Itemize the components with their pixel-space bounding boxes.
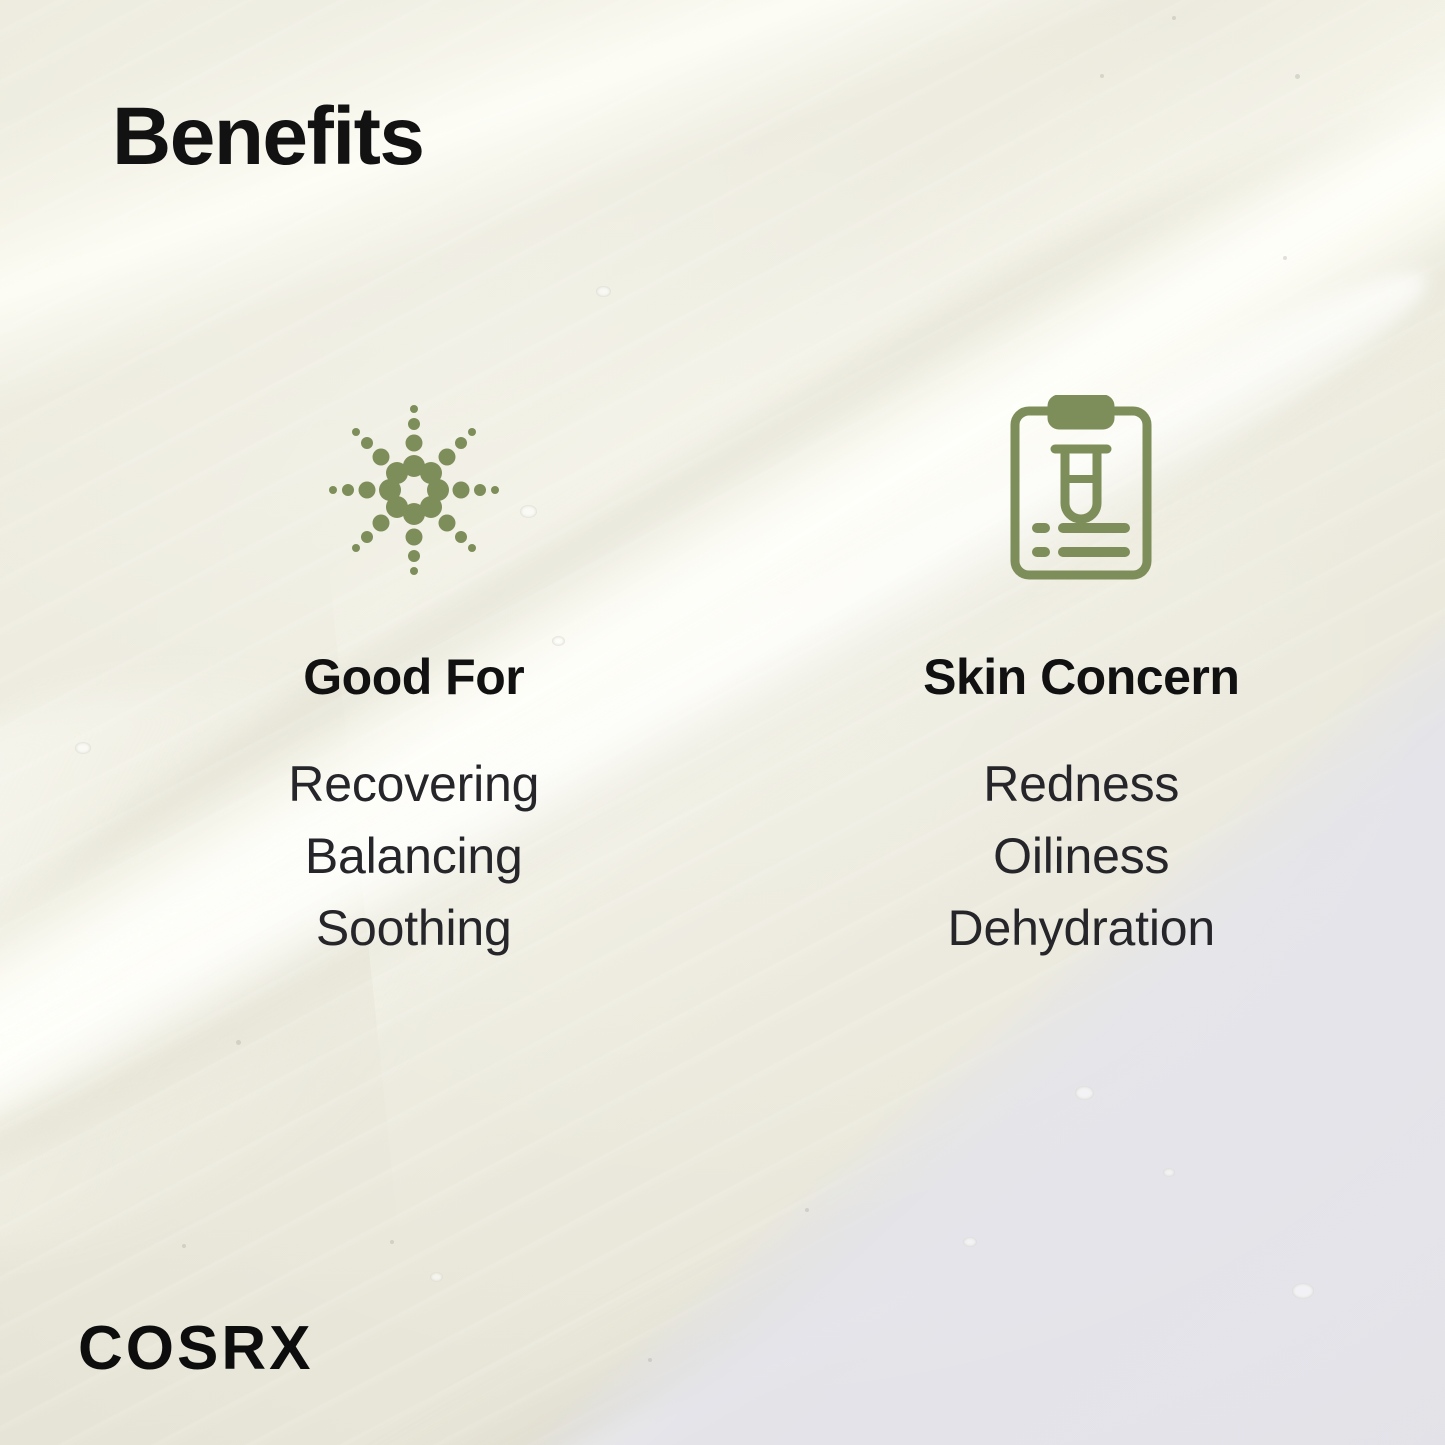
column-heading-good-for: Good For <box>303 652 524 702</box>
page-title: Benefits <box>112 96 424 178</box>
clipboard-test-tube-icon <box>1005 390 1157 590</box>
list-item: Oiliness <box>948 820 1215 892</box>
column-good-for: Good For Recovering Balancing Soothing <box>0 390 748 964</box>
sparkle-star-dots-icon <box>314 390 514 590</box>
column-heading-skin-concern: Skin Concern <box>923 652 1239 702</box>
list-item: Redness <box>948 748 1215 820</box>
benefits-infographic: Benefits <box>0 0 1445 1445</box>
list-skin-concern: Redness Oiliness Dehydration <box>948 748 1215 964</box>
list-item: Recovering <box>288 748 539 820</box>
list-item: Soothing <box>288 892 539 964</box>
list-good-for: Recovering Balancing Soothing <box>288 748 539 964</box>
list-item: Balancing <box>288 820 539 892</box>
list-item: Dehydration <box>948 892 1215 964</box>
column-skin-concern: Skin Concern Redness Oiliness Dehydratio… <box>748 390 1445 964</box>
brand-logo: COSRX <box>78 1318 313 1380</box>
benefits-columns: Good For Recovering Balancing Soothing <box>0 390 1445 964</box>
